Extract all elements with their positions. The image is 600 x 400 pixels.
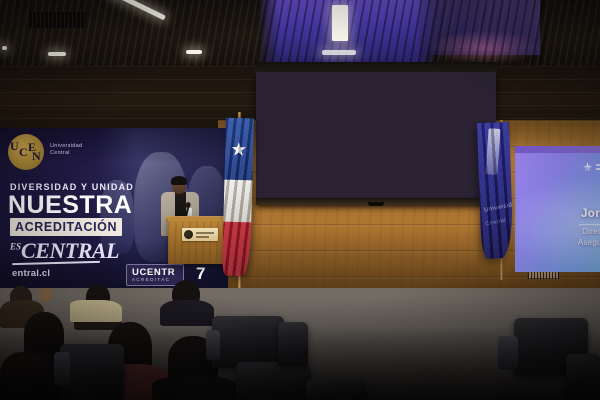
slide-divider-rule	[579, 224, 600, 225]
ceiling-light-tube	[48, 52, 66, 56]
slide-speaker-name: Jorge Ulloa Plaza	[515, 208, 600, 220]
podium-logo-icon	[184, 230, 193, 239]
audience-person-hand	[38, 288, 52, 302]
podium-emblem-plaque	[182, 228, 218, 241]
banner-url: entral.cl	[12, 268, 50, 279]
banner-script-prefix: ES	[10, 242, 21, 252]
slide-speaker-role: Director de la Dirección de Aseguramient…	[515, 227, 600, 248]
speaker-glasses-icon	[173, 183, 185, 187]
banner-headline-big: NUESTRA	[8, 191, 132, 219]
university-flag: Universidad Central	[477, 122, 514, 259]
banner-headline-script: ESCENTRAL	[10, 238, 119, 264]
banner-accreditation-badge: UCENTR ACREDITAC	[126, 264, 184, 286]
ucen-logo-icon: U C E N	[8, 134, 44, 170]
ceiling-light-panel	[332, 5, 348, 41]
ceiling-slat-overlay	[258, 0, 548, 66]
chair-armrest	[54, 352, 70, 386]
slide-logo-row	[583, 162, 600, 175]
audience-person-shoulders	[152, 376, 236, 400]
chair-armrest	[206, 330, 220, 360]
projection-screen-surface: Jorge Ulloa Plaza Director de la Direcci…	[515, 146, 600, 272]
ucen-logo-letter-c: C	[19, 145, 28, 160]
auditorium-chair	[278, 322, 308, 366]
slide-role-line-1: Director de la Dirección de	[582, 227, 600, 236]
ucen-subtitle-line-1: Universidad	[50, 143, 82, 149]
banner-script-word: CENTRAL	[21, 238, 119, 263]
slide-top-color-strip	[515, 146, 600, 153]
banner-headline-boxed: ACREDITACIÓN	[10, 218, 122, 236]
projection-screen-frame: Jorge Ulloa Plaza Director de la Direcci…	[256, 72, 496, 204]
ucen-logo-letter-n: N	[32, 149, 41, 164]
podium-plaque-text-line	[196, 236, 209, 238]
chile-flag-folds	[222, 118, 254, 277]
ucen-subtitle-line-2: Central	[50, 150, 70, 156]
university-flag-folds	[477, 122, 514, 259]
banner-badge-number: 7	[196, 264, 205, 284]
audience-person-shoulders	[160, 300, 214, 326]
ucen-logo-subtitle: Universidad Central	[50, 143, 82, 157]
presentation-photo: Jorge Ulloa Plaza Director de la Direcci…	[0, 0, 600, 400]
auditorium-chair	[566, 354, 600, 400]
ceiling-light-tube	[322, 50, 356, 55]
ceiling-light-tube	[186, 50, 202, 54]
projection-screen-bottom-bar	[256, 198, 496, 205]
auditorium-chair	[212, 316, 284, 368]
auditorium-chair	[236, 362, 310, 400]
slide-institution-logo-text	[596, 164, 600, 171]
ceiling-light-tube	[2, 46, 7, 50]
audience-person-head	[0, 352, 48, 400]
podium-plaque-text-line	[196, 232, 214, 234]
audience-person-light-jacket	[70, 300, 122, 322]
chair-armrest	[498, 336, 518, 370]
slide-institution-logo-icon	[583, 162, 592, 172]
ceiling-vent	[28, 12, 86, 28]
slide-role-line-2: Aseguramiento de la Calidad	[578, 238, 600, 247]
auditorium-chair	[306, 380, 366, 400]
chile-flag	[222, 118, 254, 277]
banner-badge-subtitle: ACREDITAC	[132, 277, 170, 282]
ucen-logo-letter-u: U	[10, 139, 19, 154]
